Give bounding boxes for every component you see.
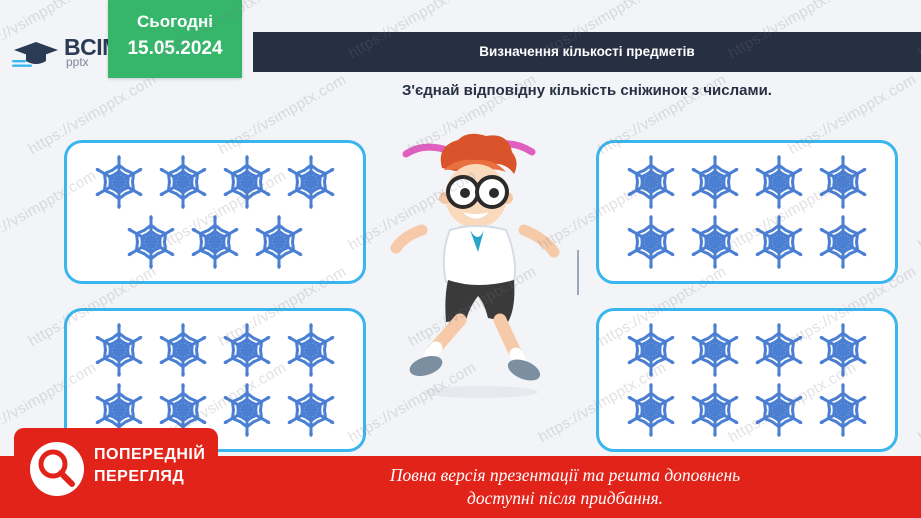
snowflake-icon [683,320,747,380]
watermark-text: https://vsimpptx.com [915,167,921,254]
preview-badge[interactable]: ПОПЕРЕДНІЙ ПЕРЕГЛЯД [14,428,218,510]
snowflake-icon [811,320,875,380]
snowflake-icon [683,380,747,440]
date-badge-date: 15.05.2024 [108,38,242,60]
snowflake-icon [183,212,247,272]
snowflake-panel-bottom-right [596,308,898,452]
snowflake-icon [279,380,343,440]
snowflake-icon [119,212,183,272]
cartoon-boy-jumping [384,130,584,410]
task-instruction: З'єднай відповідну кількість сніжинок з … [253,82,921,99]
preview-badge-label: ПОПЕРЕДНІЙ ПЕРЕГЛЯД [94,444,205,488]
magnifier-icon [30,442,84,496]
snowflake-icon [619,212,683,272]
snowflake-icon [215,320,279,380]
snowflake-icon [215,152,279,212]
preview-line-1: ПОПЕРЕДНІЙ [94,444,205,466]
watermark-text: https://vsimpptx.com [915,359,921,446]
snowflake-icon [811,152,875,212]
date-badge-label: Сьогодні [108,12,242,32]
snowflake-group [599,311,895,449]
snowflake-icon [747,212,811,272]
snowflake-panel-top-left [64,140,366,284]
snowflake-icon [683,152,747,212]
slide-root: Визначення кількості предметів З'єднай в… [0,0,921,518]
snowflake-icon [683,212,747,272]
snowflake-icon [811,380,875,440]
snowflake-icon [619,320,683,380]
snowflake-icon [247,212,311,272]
snowflake-icon [279,152,343,212]
banner-line-2: доступні після придбання. [230,487,900,510]
graduation-cap-icon [12,38,60,68]
preview-line-2: ПЕРЕГЛЯД [94,466,205,488]
banner-line-1: Повна версія презентації та решта доповн… [230,464,900,487]
snowflake-icon [151,320,215,380]
snowflake-icon [87,320,151,380]
snowflake-icon [747,152,811,212]
snowflake-icon [747,380,811,440]
snowflake-group [599,143,895,281]
logo-subtitle: pptx [66,55,89,69]
snowflake-icon [279,320,343,380]
snowflake-panel-top-right [596,140,898,284]
snowflake-icon [619,380,683,440]
header-bar: Визначення кількості предметів [253,32,921,72]
snowflake-icon [747,320,811,380]
snowflake-group [67,143,363,281]
snowflake-icon [215,380,279,440]
snowflake-icon [811,212,875,272]
snowflake-icon [151,152,215,212]
snowflake-icon [619,152,683,212]
snowflake-icon [87,152,151,212]
page-title: Визначення кількості предметів [253,32,921,72]
date-badge: Сьогодні 15.05.2024 [108,0,242,78]
banner-text: Повна версія презентації та решта доповн… [230,464,900,510]
